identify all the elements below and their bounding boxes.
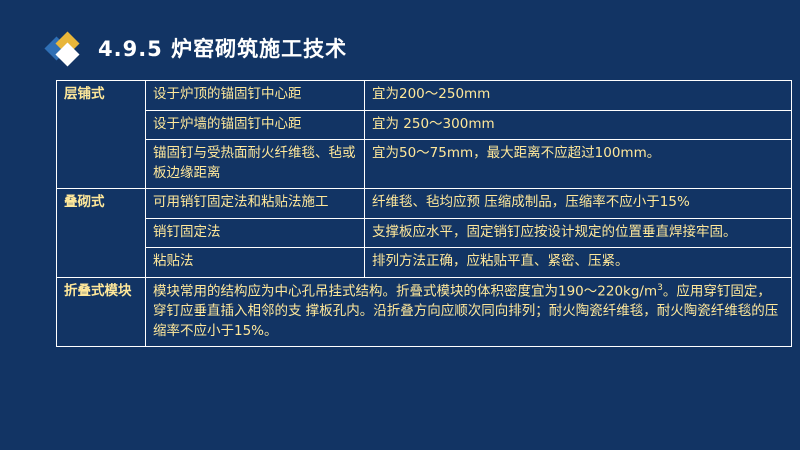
detail-cell-wide: 模块常用的结构应为中心孔吊挂式结构。折叠式模块的体积密度宜为190～220kg/…	[146, 277, 792, 346]
item-cell: 粘贴法	[146, 248, 365, 278]
detail-text-pre: 模块常用的结构应为中心孔吊挂式结构。折叠式模块的体积密度宜为190～220kg/…	[153, 283, 657, 299]
table-row: 粘贴法 排列方法正确，应粘贴平直、紧密、压紧。	[57, 248, 792, 278]
item-cell: 设于炉墙的锚固钉中心距	[146, 110, 365, 140]
detail-cell: 宜为 250～300mm	[365, 110, 792, 140]
table-row: 设于炉墙的锚固钉中心距 宜为 250～300mm	[57, 110, 792, 140]
item-cell: 销钉固定法	[146, 218, 365, 248]
title-row: 4.9.5 炉窑砌筑施工技术	[48, 28, 347, 68]
category-cell: 层铺式	[57, 81, 146, 189]
table-row: 折叠式模块 模块常用的结构应为中心孔吊挂式结构。折叠式模块的体积密度宜为190～…	[57, 277, 792, 346]
category-cell: 叠砌式	[57, 189, 146, 278]
diamond-logo-icon	[48, 33, 90, 63]
detail-cell: 支撑板应水平，固定销钉应按设计规定的位置垂直焊接牢固。	[365, 218, 792, 248]
table-row: 叠砌式 可用销钉固定法和粘贴法施工 纤维毯、毡均应预 压缩成制品，压缩率不应小于…	[57, 189, 792, 219]
detail-cell: 纤维毯、毡均应预 压缩成制品，压缩率不应小于15%	[365, 189, 792, 219]
content-table-wrap: 层铺式 设于炉顶的锚固钉中心距 宜为200～250mm 设于炉墙的锚固钉中心距 …	[56, 80, 748, 347]
table-row: 销钉固定法 支撑板应水平，固定销钉应按设计规定的位置垂直焊接牢固。	[57, 218, 792, 248]
detail-cell: 宜为50～75mm，最大距离不应超过100mm。	[365, 140, 792, 189]
detail-cell: 排列方法正确，应粘贴平直、紧密、压紧。	[365, 248, 792, 278]
table-row: 锚固钉与受热面耐火纤维毯、毡或板边缘距离 宜为50～75mm，最大距离不应超过1…	[57, 140, 792, 189]
content-table: 层铺式 设于炉顶的锚固钉中心距 宜为200～250mm 设于炉墙的锚固钉中心距 …	[56, 80, 792, 347]
item-cell: 设于炉顶的锚固钉中心距	[146, 81, 365, 111]
slide: 4.9.5 炉窑砌筑施工技术 层铺式 设于炉顶的锚固钉中心距 宜为200～250…	[0, 0, 800, 450]
item-cell: 可用销钉固定法和粘贴法施工	[146, 189, 365, 219]
page-title: 4.9.5 炉窑砌筑施工技术	[98, 33, 347, 63]
category-cell: 折叠式模块	[57, 277, 146, 346]
detail-cell: 宜为200～250mm	[365, 81, 792, 111]
table-row: 层铺式 设于炉顶的锚固钉中心距 宜为200～250mm	[57, 81, 792, 111]
item-cell: 锚固钉与受热面耐火纤维毯、毡或板边缘距离	[146, 140, 365, 189]
